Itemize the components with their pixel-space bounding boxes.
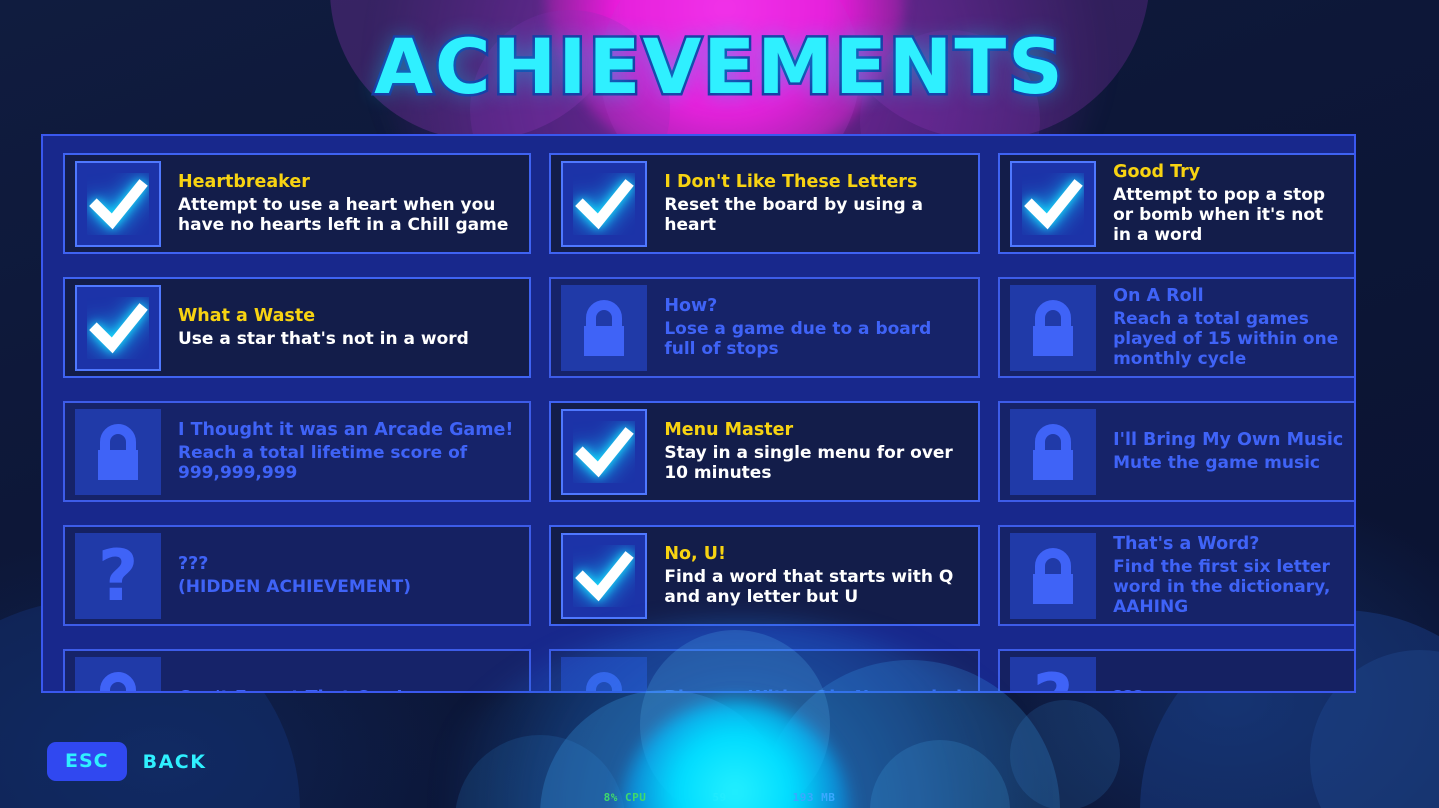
achievement-description: (HIDDEN ACHIEVEMENT) xyxy=(178,577,513,597)
achievement-texts: Can't Forget That One! xyxy=(161,688,519,693)
achievement-description: Stay in a single menu for over 10 minute… xyxy=(664,443,962,483)
achievement-texts: ??? xyxy=(1096,688,1349,693)
check-icon-box xyxy=(75,285,161,371)
memory-usage: 193 MB xyxy=(793,791,836,804)
achievement-card[interactable]: That's a Word?Find the first six letter … xyxy=(998,525,1356,626)
achievement-texts: How?Lose a game due to a board full of s… xyxy=(647,296,968,360)
achievement-title: How? xyxy=(664,296,962,318)
lock-icon xyxy=(1025,422,1081,482)
achievement-card[interactable]: ????(HIDDEN ACHIEVEMENT) xyxy=(63,525,531,626)
achievement-description: Reach a total games played of 15 within … xyxy=(1113,309,1343,369)
achievement-title: I Don't Like These Letters xyxy=(664,172,962,194)
footer-controls: ESC BACK xyxy=(47,742,206,781)
achievement-texts: I Don't Like These LettersReset the boar… xyxy=(647,172,968,236)
achievements-panel: HeartbreakerAttempt to use a heart when … xyxy=(41,134,1356,693)
achievement-title: I'll Bring My Own Music xyxy=(1113,430,1343,452)
achievement-description: Find the first six letter word in the di… xyxy=(1113,557,1343,617)
achievement-texts: Good TryAttempt to pop a stop or bomb wh… xyxy=(1096,162,1349,246)
achievement-texts: Menu MasterStay in a single menu for ove… xyxy=(647,420,968,484)
lock-icon-box xyxy=(561,285,647,371)
esc-key-hint[interactable]: ESC xyxy=(47,742,127,781)
achievement-title: Rhymes With...Oh, Nevermind xyxy=(664,688,962,693)
check-icon-box xyxy=(561,533,647,619)
lock-icon xyxy=(1025,546,1081,606)
achievement-description: Find a word that starts with Q and any l… xyxy=(664,567,962,607)
lock-icon-box xyxy=(1010,409,1096,495)
achievement-title: ??? xyxy=(1113,688,1343,693)
achievement-texts: No, U!Find a word that starts with Q and… xyxy=(647,544,968,608)
achievement-texts: I'll Bring My Own MusicMute the game mus… xyxy=(1096,430,1349,474)
achievement-card[interactable]: What a WasteUse a star that's not in a w… xyxy=(63,277,531,378)
lock-icon-box xyxy=(1010,285,1096,371)
performance-overlay: 8% CPU 59 193 MB xyxy=(0,791,1439,804)
check-icon xyxy=(87,297,149,359)
achievement-title: On A Roll xyxy=(1113,286,1343,308)
page-title: ACHIEVEMENTS xyxy=(0,22,1439,111)
achievement-title: No, U! xyxy=(664,544,962,566)
achievement-title: Menu Master xyxy=(664,420,962,442)
achievement-card[interactable]: I Don't Like These LettersReset the boar… xyxy=(549,153,980,254)
achievement-card[interactable]: Good TryAttempt to pop a stop or bomb wh… xyxy=(998,153,1356,254)
back-button[interactable]: BACK xyxy=(143,751,207,773)
achievement-description: Lose a game due to a board full of stops xyxy=(664,319,962,359)
question-icon-box: ? xyxy=(75,533,161,619)
check-icon xyxy=(573,421,635,483)
achievement-card[interactable]: ???? xyxy=(998,649,1356,693)
lock-icon xyxy=(1025,298,1081,358)
achievement-card[interactable]: HeartbreakerAttempt to use a heart when … xyxy=(63,153,531,254)
lock-icon-box xyxy=(1010,533,1096,619)
achievement-title: ??? xyxy=(178,554,513,576)
achievement-description: Attempt to pop a stop or bomb when it's … xyxy=(1113,185,1343,245)
achievement-card[interactable]: No, U!Find a word that starts with Q and… xyxy=(549,525,980,626)
achievement-texts: On A RollReach a total games played of 1… xyxy=(1096,286,1349,370)
achievement-title: Can't Forget That One! xyxy=(178,688,513,693)
achievement-title: Good Try xyxy=(1113,162,1343,184)
achievement-texts: What a WasteUse a star that's not in a w… xyxy=(161,306,519,350)
lock-icon xyxy=(90,422,146,482)
lock-icon-box xyxy=(75,657,161,694)
achievement-card[interactable]: I'll Bring My Own MusicMute the game mus… xyxy=(998,401,1356,502)
achievement-texts: Rhymes With...Oh, Nevermind xyxy=(647,688,968,693)
lock-icon xyxy=(90,670,146,694)
achievement-title: What a Waste xyxy=(178,306,513,328)
achievements-screen: ACHIEVEMENTS HeartbreakerAttempt to use … xyxy=(0,0,1439,808)
lock-icon xyxy=(576,298,632,358)
achievement-texts: That's a Word?Find the first six letter … xyxy=(1096,534,1349,618)
check-icon xyxy=(1022,173,1084,235)
achievement-card[interactable]: On A RollReach a total games played of 1… xyxy=(998,277,1356,378)
achievement-card[interactable]: I Thought it was an Arcade Game!Reach a … xyxy=(63,401,531,502)
achievement-card[interactable]: Menu MasterStay in a single menu for ove… xyxy=(549,401,980,502)
question-icon-box: ? xyxy=(1010,657,1096,694)
check-icon-box xyxy=(561,409,647,495)
check-icon xyxy=(573,545,635,607)
achievement-title: I Thought it was an Arcade Game! xyxy=(178,420,513,442)
achievement-texts: I Thought it was an Arcade Game!Reach a … xyxy=(161,420,519,484)
achievement-texts: ???(HIDDEN ACHIEVEMENT) xyxy=(161,554,519,598)
check-icon xyxy=(87,173,149,235)
question-icon: ? xyxy=(1033,665,1074,694)
achievement-title: Heartbreaker xyxy=(178,172,513,194)
check-icon-box xyxy=(75,161,161,247)
achievement-description: Reset the board by using a heart xyxy=(664,195,962,235)
achievement-description: Mute the game music xyxy=(1113,453,1343,473)
lock-icon-box xyxy=(561,657,647,694)
check-icon xyxy=(573,173,635,235)
cpu-usage: 8% CPU xyxy=(604,791,647,804)
achievement-card[interactable]: Can't Forget That One! xyxy=(63,649,531,693)
question-icon: ? xyxy=(98,541,139,611)
achievement-description: Reach a total lifetime score of 999,999,… xyxy=(178,443,513,483)
fps-counter: 59 xyxy=(712,791,726,804)
achievement-description: Attempt to use a heart when you have no … xyxy=(178,195,513,235)
lock-icon xyxy=(576,670,632,694)
achievement-title: That's a Word? xyxy=(1113,534,1343,556)
lock-icon-box xyxy=(75,409,161,495)
achievement-texts: HeartbreakerAttempt to use a heart when … xyxy=(161,172,519,236)
achievement-card[interactable]: How?Lose a game due to a board full of s… xyxy=(549,277,980,378)
check-icon-box xyxy=(1010,161,1096,247)
achievement-card[interactable]: Rhymes With...Oh, Nevermind xyxy=(549,649,980,693)
check-icon-box xyxy=(561,161,647,247)
achievement-description: Use a star that's not in a word xyxy=(178,329,513,349)
achievements-grid: HeartbreakerAttempt to use a heart when … xyxy=(43,136,1354,693)
